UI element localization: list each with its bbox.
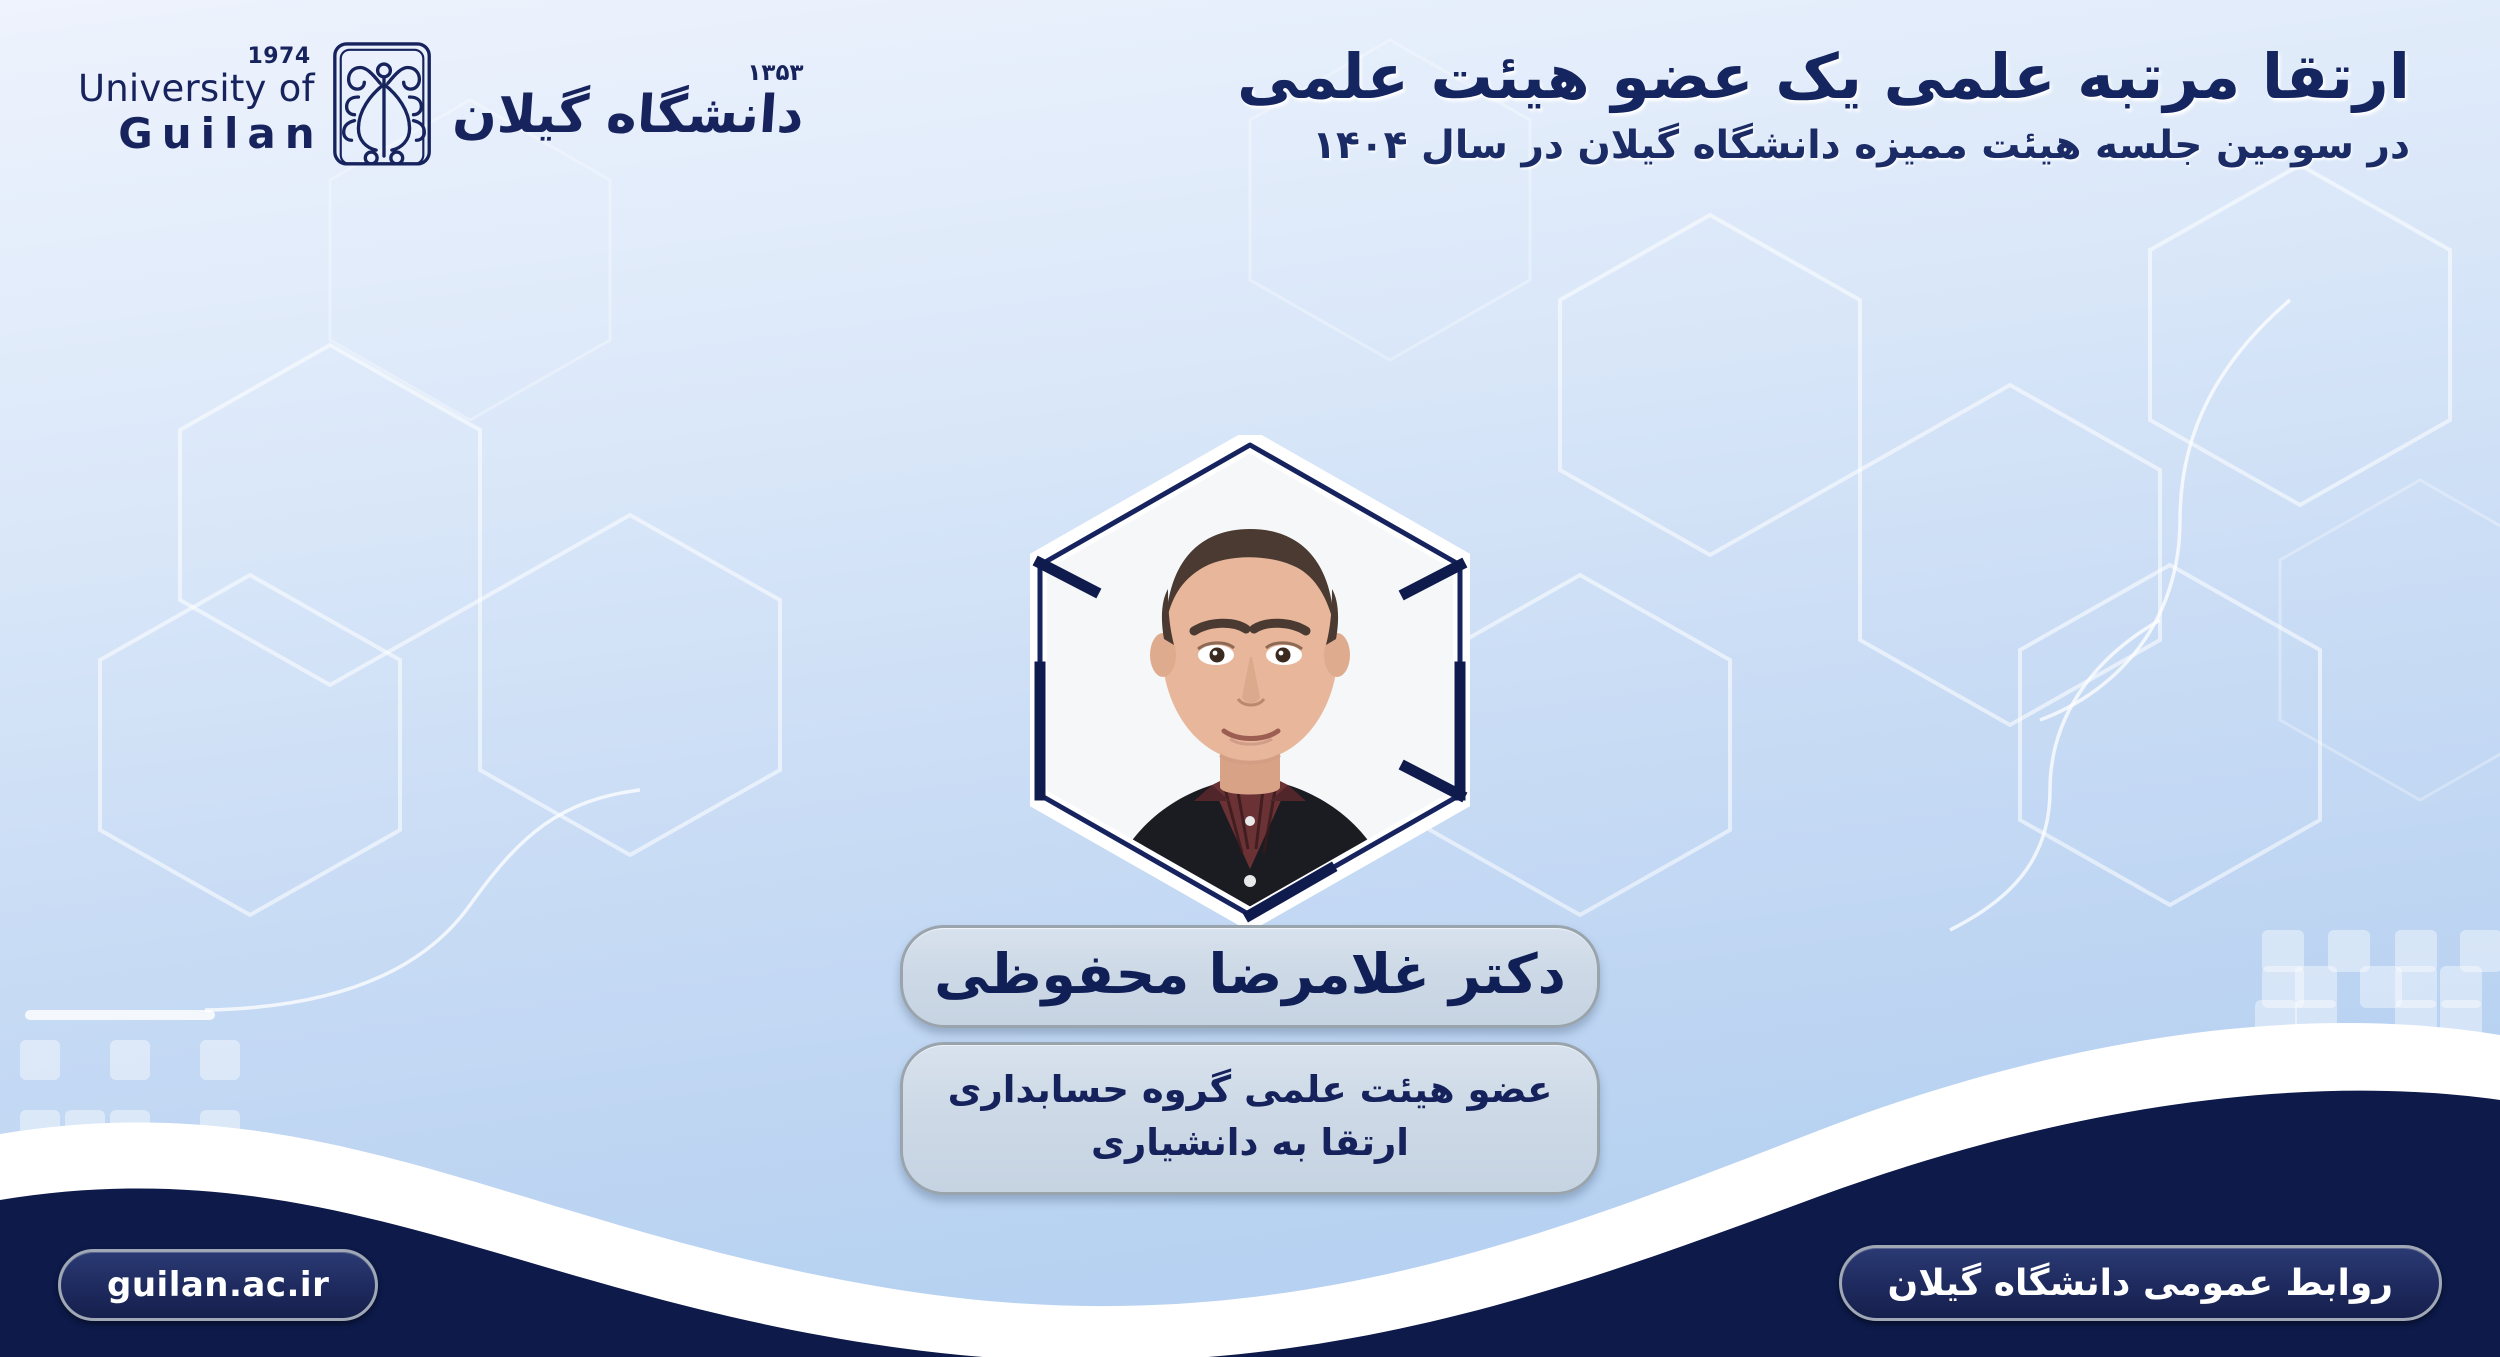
logo-year-fa: ۱۳۵۳ [747, 62, 803, 85]
person-role-line1: عضو هیئت علمی گروه حسابداری [937, 1063, 1563, 1117]
public-relations-badge: روابط عمومی دانشگاه گیلان [1839, 1245, 2442, 1321]
website-badge[interactable]: guilan.ac.ir [58, 1249, 378, 1321]
title-block: ارتقا مرتبه علمی یک عضو هیئت علمی در سوم… [1237, 40, 2410, 170]
footer: guilan.ac.ir روابط عمومی دانشگاه گیلان [0, 1187, 2500, 1357]
header: 1974 University of Guilan [0, 0, 2500, 215]
person-role-line2: ارتقا به دانشیاری [937, 1116, 1563, 1170]
person-name-plate: دکتر غلامرضا محفوظی [900, 925, 1600, 1028]
person-info: دکتر غلامرضا محفوظی عضو هیئت علمی گروه ح… [900, 925, 1600, 1195]
page-subtitle: در سومین جلسه هیئت ممیزه دانشگاه گیلان د… [1237, 123, 2410, 170]
logo-university-name-fa: دانشگاه گیلان [451, 89, 805, 141]
guilan-tree-emblem-icon [325, 38, 443, 166]
portrait-hexagon: دکتر غلامرضا محفوظی [1030, 435, 1470, 925]
logo-persian-text: ۱۳۵۳ دانشگاه گیلان [453, 62, 804, 143]
university-logo: 1974 University of Guilan [78, 38, 804, 166]
logo-english-text: 1974 University of Guilan [78, 46, 315, 159]
page-title: ارتقا مرتبه علمی یک عضو هیئت علمی [1237, 40, 2410, 113]
person-role-plate: عضو هیئت علمی گروه حسابداری ارتقا به دان… [900, 1042, 1600, 1195]
logo-year-en: 1974 [247, 46, 310, 68]
logo-university-word: University of [78, 70, 315, 107]
logo-guilan-word: Guilan [118, 113, 323, 155]
poster-canvas: 1974 University of Guilan [0, 0, 2500, 1357]
hexagon-frame-icon [1030, 435, 1470, 925]
